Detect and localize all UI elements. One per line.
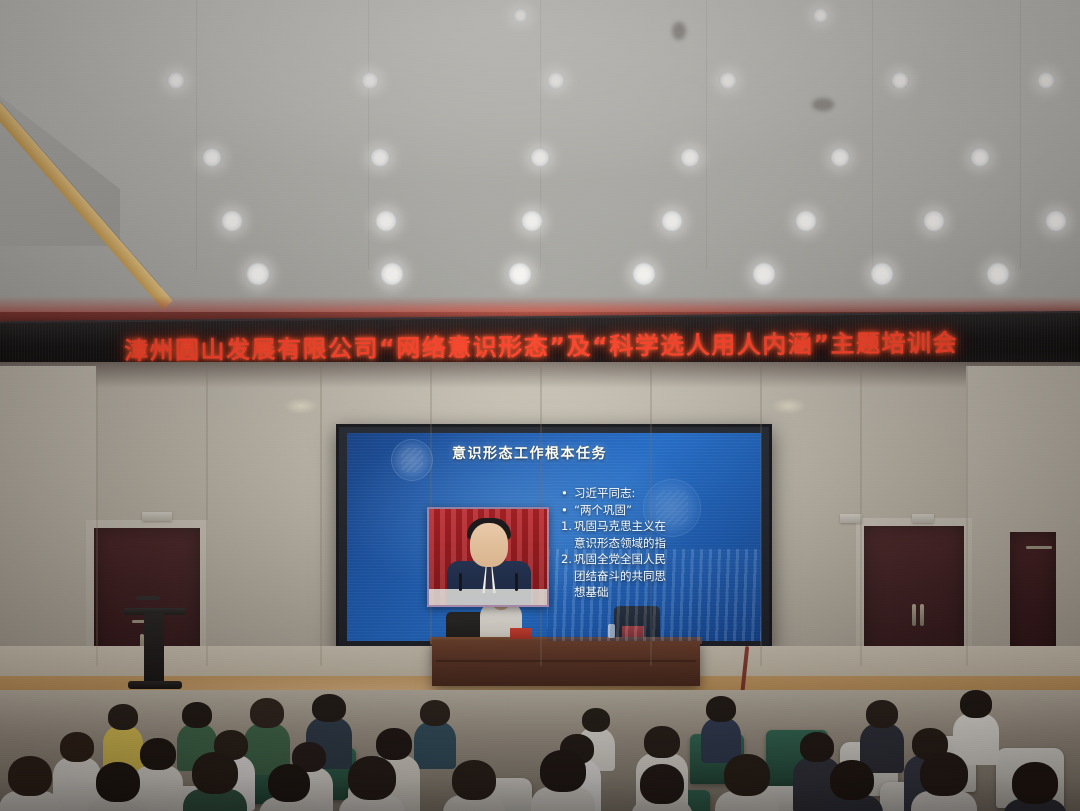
- slide-bullet-text: 巩固全党全国人民: [574, 552, 666, 566]
- downlight: [202, 148, 221, 167]
- podium-microphone: [136, 596, 160, 600]
- downlight: [632, 262, 656, 286]
- downlight: [167, 72, 184, 89]
- slide-bullet-text: 想基础: [574, 585, 609, 599]
- slide-bullet-text: 习近平同志:: [574, 486, 635, 500]
- ceiling-seam: [540, 0, 541, 270]
- slide-bullet-marker: 2.: [561, 551, 574, 568]
- downlight: [752, 262, 776, 286]
- portrait-face: [470, 523, 508, 567]
- slide-bullet-line: 2.巩固全党全国人民: [561, 551, 666, 568]
- head-table-trim: [436, 660, 696, 662]
- audience-vignette: [0, 690, 1080, 811]
- downlight: [891, 72, 908, 89]
- ceiling-seam: [872, 0, 873, 270]
- ceiling-seam: [368, 0, 369, 270]
- slide-bullet-marker: •: [561, 485, 574, 502]
- downlight: [521, 210, 543, 232]
- slide-bullet-text: 巩固马克思主义在: [574, 519, 666, 533]
- auditorium-photo: 漳州圆山发展有限公司“网络意识形态”及“科学选人用人内涵”主题培训会 意识形态工…: [0, 0, 1080, 811]
- portrait-microphone-b: [515, 573, 518, 591]
- projection-screen: 意识形态工作根本任务 •习近平同志:•“两个巩固”1.巩固马克思主义在意识形态领…: [347, 433, 761, 641]
- wall-seam: [96, 366, 98, 666]
- slide-bullet-line: •习近平同志:: [561, 485, 666, 502]
- wall-seam: [206, 366, 208, 666]
- downlight: [986, 262, 1010, 286]
- downlight: [970, 148, 989, 167]
- downlight: [795, 210, 817, 232]
- ceiling-seam: [196, 0, 197, 270]
- ceiling-smudge-a: [672, 22, 686, 40]
- downlight: [375, 210, 397, 232]
- slide-bullet-text: “两个巩固”: [574, 503, 632, 517]
- ceiling-smudge-b: [812, 98, 834, 111]
- head-table: [432, 640, 700, 686]
- party-emblem-icon-left: [391, 439, 433, 481]
- projection-screen-bezel: 意识形态工作根本任务 •习近平同志:•“两个巩固”1.巩固马克思主义在意识形态领…: [336, 424, 772, 652]
- ceiling-seam: [1020, 0, 1021, 270]
- slide-bullet-line: 1.巩固马克思主义在: [561, 518, 666, 535]
- audience-area: [0, 690, 1080, 811]
- table-item-red-box-left: [510, 628, 532, 639]
- downlight: [530, 148, 549, 167]
- wall-seam: [966, 366, 968, 666]
- slide-bullet-list: •习近平同志:•“两个巩固”1.巩固马克思主义在意识形态领域的指2.巩固全党全国…: [561, 485, 666, 601]
- downlight: [680, 148, 699, 167]
- downlight: [813, 8, 828, 23]
- downlight: [923, 210, 945, 232]
- slide-bullet-line: 意识形态领域的指: [561, 535, 666, 552]
- slide-bullet-line: •“两个巩固”: [561, 502, 666, 519]
- downlight: [370, 148, 389, 167]
- downlight: [246, 262, 270, 286]
- slide-bullet-text: 团结奋斗的共同思: [574, 569, 666, 583]
- downlight: [661, 210, 683, 232]
- slide-bullet-text: 意识形态领域的指: [574, 536, 666, 550]
- podium-base: [128, 681, 182, 689]
- downlight: [870, 262, 894, 286]
- downlight: [361, 72, 378, 89]
- downlight: [508, 262, 532, 286]
- portrait-microphone-a: [459, 573, 462, 591]
- slide-bullet-marker: 1.: [561, 518, 574, 535]
- downlight: [1045, 210, 1067, 232]
- portrait-desk: [429, 589, 547, 605]
- slide-bullet-line: 想基础: [561, 584, 666, 601]
- downlight: [380, 262, 404, 286]
- downlight: [1037, 72, 1054, 89]
- downlight: [547, 72, 564, 89]
- slide-portrait-photo: [427, 507, 549, 607]
- downlight: [513, 8, 528, 23]
- slide-title: 意识形态工作根本任务: [452, 443, 607, 463]
- slide-bullet-line: 团结奋斗的共同思: [561, 568, 666, 585]
- downlight: [221, 210, 243, 232]
- podium-column: [144, 613, 164, 685]
- wall-seam: [320, 366, 322, 666]
- slide-bullet-marker: •: [561, 502, 574, 519]
- wall-seam: [860, 366, 862, 666]
- ceiling-seam: [706, 0, 707, 270]
- downlight: [719, 72, 736, 89]
- downlight: [830, 148, 849, 167]
